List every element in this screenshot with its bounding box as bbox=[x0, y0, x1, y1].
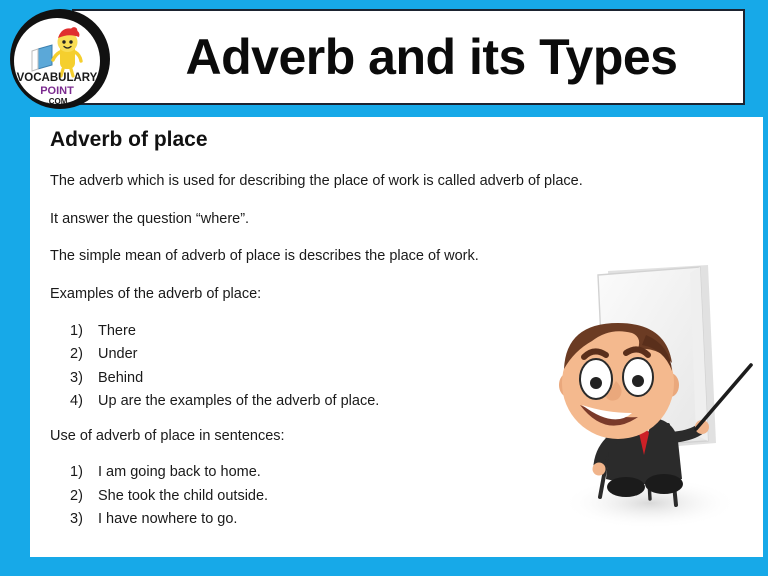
slide-canvas: Adverb and its Types bbox=[0, 0, 768, 576]
logo-line-1: VOCABULARY bbox=[17, 72, 98, 84]
list-text: Up are the examples of the adverb of pla… bbox=[98, 393, 379, 409]
list-number: 2) bbox=[70, 347, 83, 362]
list-text: I am going back to home. bbox=[98, 464, 261, 480]
logo-line-2: POINT bbox=[40, 85, 74, 97]
list-item: 2) Under bbox=[50, 347, 740, 362]
list-text: Behind bbox=[98, 370, 143, 386]
list-number: 3) bbox=[70, 512, 83, 527]
list-item: 1) I am going back to home. bbox=[50, 465, 740, 480]
lesson-body: Adverb of place The adverb which is used… bbox=[50, 128, 740, 546]
list-item: 1) There bbox=[50, 324, 740, 339]
list-item: 3) I have nowhere to go. bbox=[50, 512, 740, 527]
examples-list: 1) There 2) Under 3) Behind 4) Up are th… bbox=[50, 324, 740, 409]
list-number: 2) bbox=[70, 489, 83, 504]
list-text: She took the child outside. bbox=[98, 488, 268, 504]
list-text: There bbox=[98, 323, 136, 339]
header-bar: Adverb and its Types bbox=[72, 9, 745, 105]
sentences-list: 1) I am going back to home. 2) She took … bbox=[50, 465, 740, 527]
list-number: 3) bbox=[70, 371, 83, 386]
list-item: 3) Behind bbox=[50, 371, 740, 386]
list-number: 4) bbox=[70, 394, 83, 409]
simple-meaning-paragraph: The simple mean of adverb of place is de… bbox=[50, 248, 740, 265]
list-text: I have nowhere to go. bbox=[98, 511, 237, 527]
list-item: 4) Up are the examples of the adverb of … bbox=[50, 394, 740, 409]
logo-line-3: .COM bbox=[47, 97, 68, 106]
content-panel: Adverb of place The adverb which is used… bbox=[30, 117, 763, 557]
vocabulary-point-logo: VOCABULARY POINT .COM bbox=[8, 7, 112, 111]
definition-paragraph: The adverb which is used for describing … bbox=[50, 173, 740, 190]
section-heading: Adverb of place bbox=[50, 128, 740, 151]
sentences-intro: Use of adverb of place in sentences: bbox=[50, 428, 740, 445]
list-text: Under bbox=[98, 346, 138, 362]
list-number: 1) bbox=[70, 324, 83, 339]
list-item: 2) She took the child outside. bbox=[50, 489, 740, 504]
page-title: Adverb and its Types bbox=[74, 32, 743, 82]
question-paragraph: It answer the question “where”. bbox=[50, 211, 740, 228]
examples-intro: Examples of the adverb of place: bbox=[50, 286, 740, 303]
list-number: 1) bbox=[70, 465, 83, 480]
